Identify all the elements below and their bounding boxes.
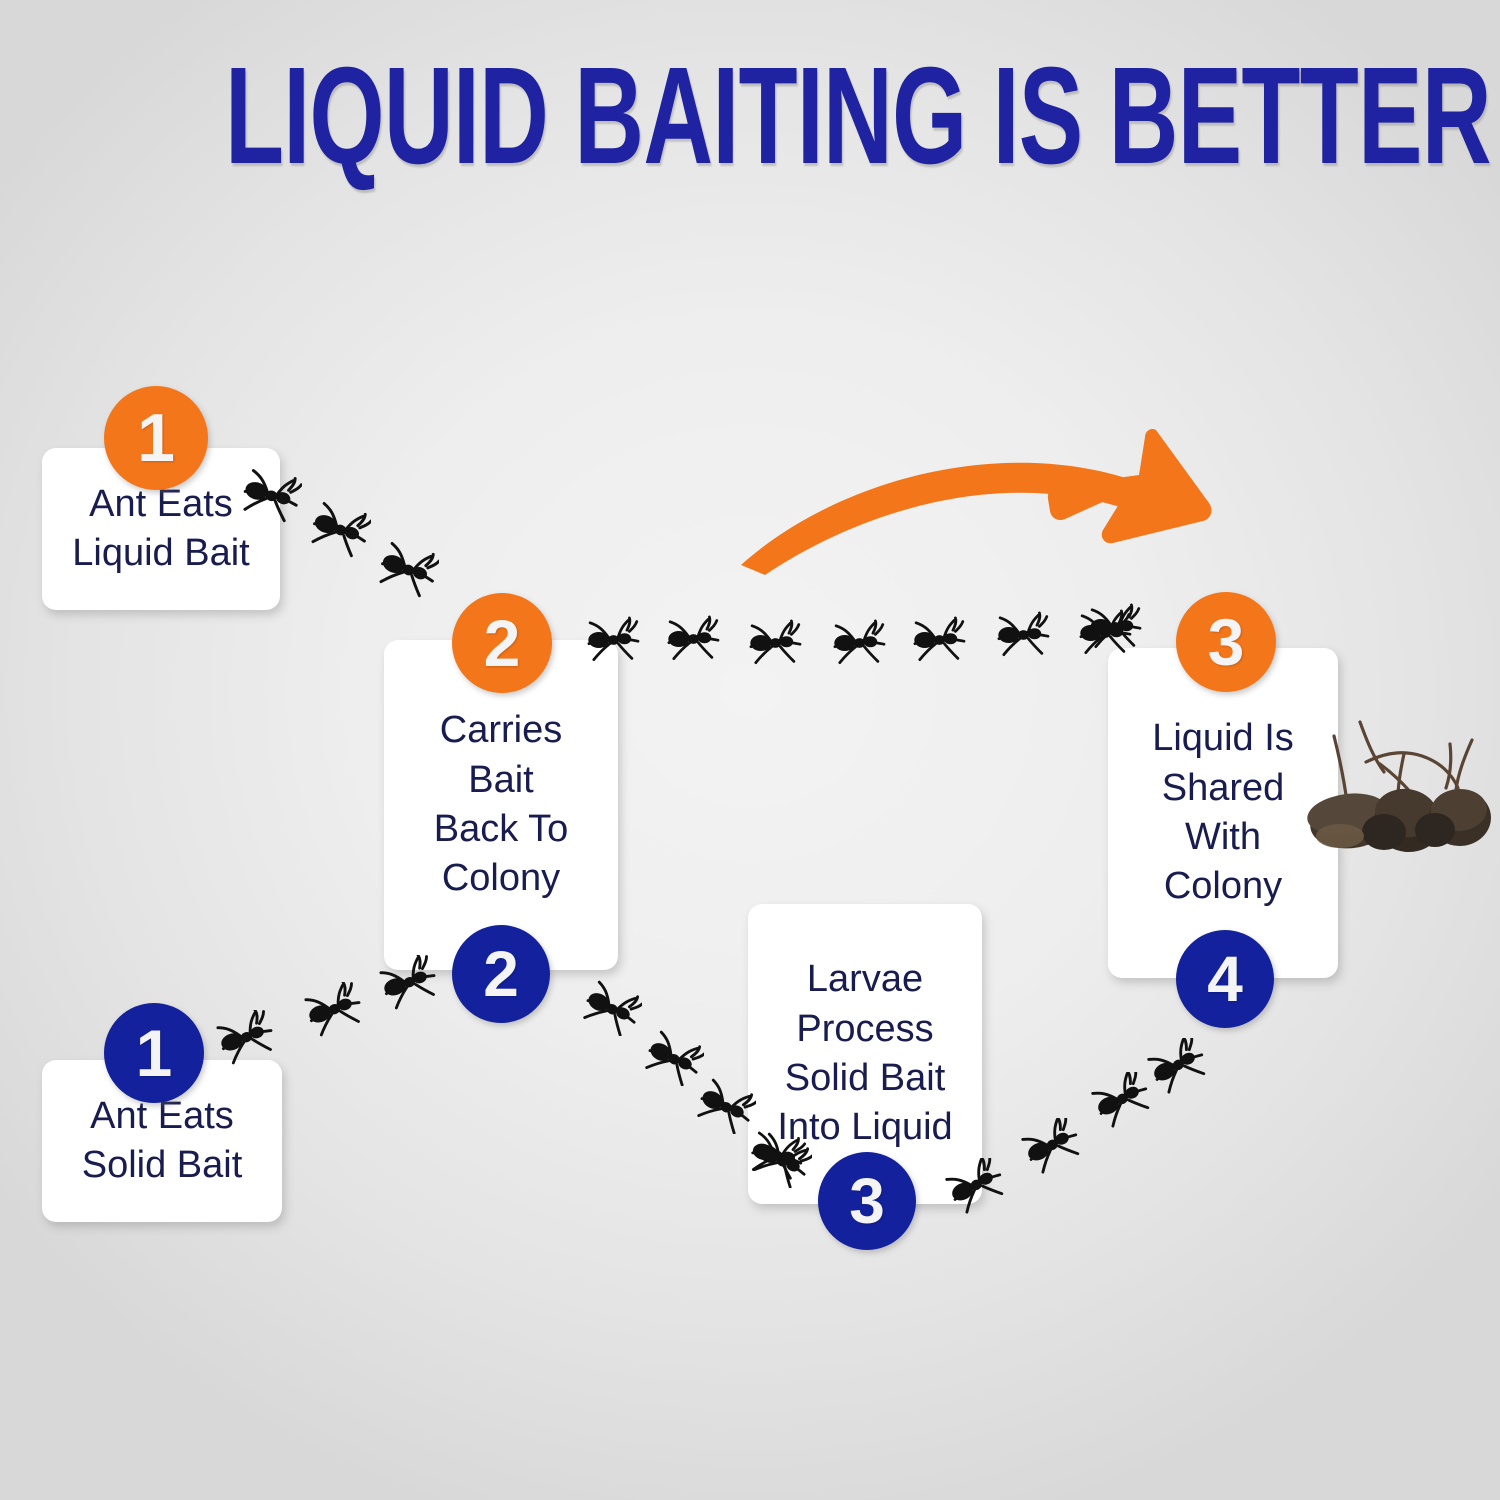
curved-arrow-icon bbox=[735, 415, 1225, 575]
ant-icon bbox=[942, 1158, 1006, 1214]
ant-icon bbox=[212, 1010, 276, 1066]
badge-liquid-step-3[interactable]: 3 bbox=[1176, 592, 1276, 692]
ant-icon bbox=[580, 613, 642, 667]
ant-icon bbox=[373, 540, 439, 598]
badge-solid-step-3[interactable]: 3 bbox=[818, 1152, 916, 1250]
badge-solid-step-2[interactable]: 2 bbox=[452, 925, 550, 1023]
ant-icon bbox=[906, 613, 968, 667]
card-liquid-is-shared-with-colony-text: Liquid Is Shared With Colony bbox=[1152, 714, 1294, 912]
ant-icon bbox=[692, 1078, 756, 1134]
card-ant-eats-solid-bait-text: Ant Eats Solid Bait bbox=[82, 1092, 243, 1191]
ant-icon bbox=[1144, 1038, 1208, 1094]
ant-icon bbox=[744, 1128, 806, 1182]
dead-ants-photo bbox=[1300, 718, 1500, 868]
card-larvae-process-solid-bait-into-liquid-text: Larvae Process Solid Bait Into Liquid bbox=[777, 955, 952, 1153]
ant-icon bbox=[578, 980, 642, 1036]
card-ant-eats-liquid-bait-text: Ant Eats Liquid Bait bbox=[72, 480, 249, 579]
infographic-canvas: LIQUID BAITING IS BETTER bbox=[0, 0, 1500, 1500]
page-title: LIQUID BAITING IS BETTER bbox=[225, 46, 1275, 187]
ant-icon bbox=[1082, 600, 1144, 654]
ant-icon bbox=[300, 982, 364, 1038]
badge-liquid-step-2[interactable]: 2 bbox=[452, 593, 552, 693]
ant-icon bbox=[305, 500, 371, 558]
ant-icon bbox=[1018, 1118, 1082, 1174]
card-carries-bait-back-to-colony-text: Carries Bait Back To Colony bbox=[434, 706, 568, 904]
ant-icon bbox=[1088, 1072, 1152, 1128]
ant-icon bbox=[826, 616, 888, 670]
ant-icon bbox=[236, 466, 302, 524]
ant-icon bbox=[990, 608, 1052, 662]
badge-liquid-step-1[interactable]: 1 bbox=[104, 386, 208, 490]
badge-solid-step-1[interactable]: 1 bbox=[104, 1003, 204, 1103]
ant-icon bbox=[660, 612, 722, 666]
ant-icon bbox=[375, 955, 439, 1011]
ant-icon bbox=[742, 616, 804, 670]
badge-solid-step-4[interactable]: 4 bbox=[1176, 930, 1274, 1028]
